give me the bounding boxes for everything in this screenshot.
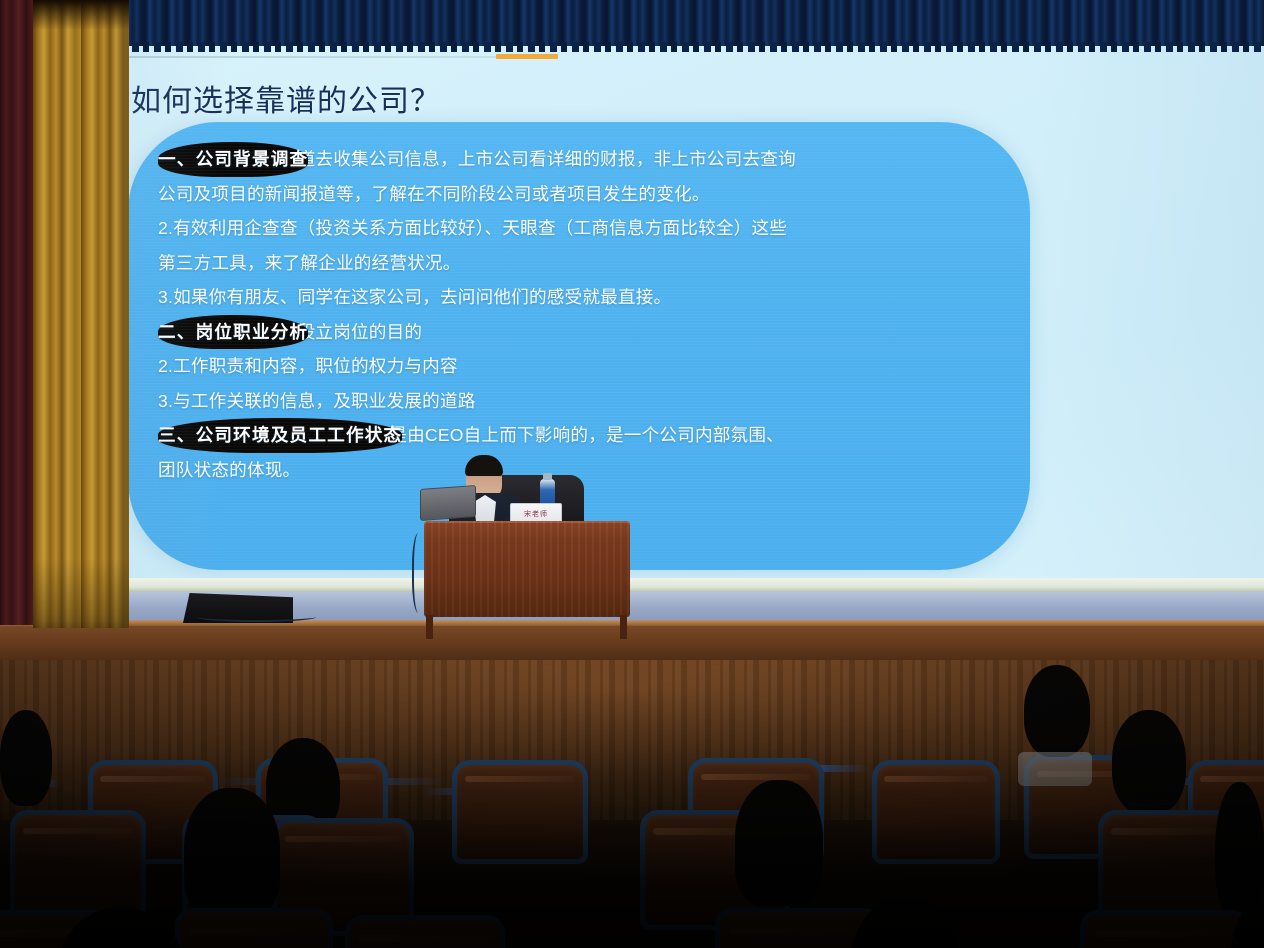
audience-head (184, 788, 280, 918)
audience-head (1215, 782, 1264, 922)
slide-line: 一、公司背景调查 (158, 142, 308, 177)
slide-content-lines: 一、公司背景调查 1.通过各种信息渠道去收集公司信息，上市公司看详细的财报，非上… (158, 142, 1010, 487)
stage-apron (0, 624, 1264, 664)
audience-head (1024, 665, 1090, 757)
stage-curtain-top-valance (0, 0, 1264, 46)
slide-line: 公司及项目的新闻报道等，了解在不同阶段公司或者项目发生的变化。 (158, 177, 1010, 212)
seat (175, 908, 333, 948)
speaker-cable (196, 612, 316, 622)
seat (452, 760, 588, 864)
slide-accent-bar (496, 54, 558, 59)
presenter-desk (424, 521, 630, 617)
microphone-cable (412, 533, 428, 613)
audience-head (0, 710, 52, 806)
slide-line: 三、公司环境及员工工作状态 (158, 418, 402, 453)
auditorium-scene: 如何选择靠谱的公司？ 一、公司背景调查 1.通过各种信息渠道去收集公司信息，上市… (0, 0, 1264, 948)
presenter-desk-group: 宋老师 (404, 455, 644, 630)
slide-divider-rule (128, 56, 558, 58)
slide-line: 二、岗位职业分析 (158, 315, 308, 350)
desk-leg-right (620, 615, 627, 639)
audience-area (0, 660, 1264, 948)
presenter-hair (465, 455, 503, 476)
slide-title: 如何选择靠谱的公司？ (131, 76, 441, 120)
stage-curtain-gold-left (33, 0, 129, 628)
desk-leg-left (426, 615, 433, 639)
audience-head (850, 898, 960, 948)
audience-head (1112, 710, 1186, 814)
seat (872, 760, 1000, 864)
seat (1080, 910, 1250, 948)
stage-curtain-gold-shadow (33, 0, 129, 30)
slide-line: 2.有效利用企查查（投资关系方面比较好）、天眼查（工商信息方面比较全）这些 (158, 211, 1010, 246)
slide-line: 第三方工具，来了解企业的经营状况。 (158, 246, 1010, 281)
slide-line: 3.如果你有朋友、同学在这家公司，去问问他们的感受就最直接。 (158, 280, 1010, 315)
seat (345, 915, 505, 948)
audience-head (735, 780, 823, 906)
slide-line: 3.与工作关联的信息，及职业发展的道路 (158, 384, 1010, 419)
audience-shirt (1018, 752, 1092, 786)
laptop (420, 485, 476, 521)
slide-line: 2.工作职责和内容，职位的权力与内容 (158, 349, 1010, 384)
